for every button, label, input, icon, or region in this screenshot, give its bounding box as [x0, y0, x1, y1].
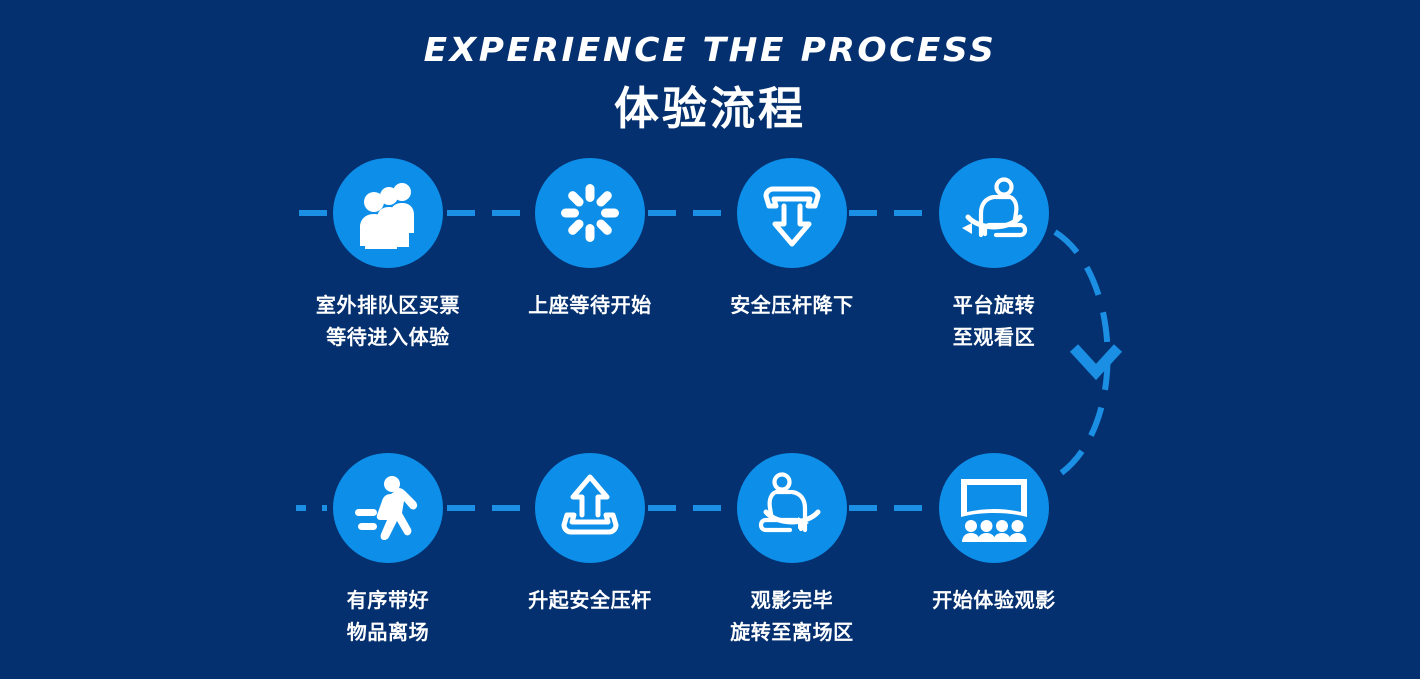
flow-step-2[interactable]: 上座等待开始 [490, 158, 690, 322]
flow-step-4[interactable]: 平台旋转 至观看区 [894, 158, 1094, 354]
flow-step-5-circle[interactable] [939, 453, 1049, 563]
flow-step-5-label: 开始体验观影 [894, 585, 1094, 617]
flow-step-1-label: 室外排队区买票 等待进入体验 [288, 290, 488, 354]
flow-step-5[interactable]: 开始体验观影 [894, 453, 1094, 617]
rotate-arrowhead-icon [962, 223, 972, 234]
flow-nodes: 室外排队区买票 等待进入体验 [0, 0, 1420, 679]
flow-step-6[interactable]: 观影完毕 旋转至离场区 [692, 453, 892, 649]
flow-step-7-label: 升起安全压杆 [490, 585, 690, 617]
flow-step-8-label: 有序带好 物品离场 [288, 585, 488, 649]
seat-rotate-right-icon [752, 468, 832, 548]
flow-step-2-circle[interactable] [535, 158, 645, 268]
cinema-screen-audience-icon [955, 469, 1033, 547]
flow-step-3[interactable]: 安全压杆降下 [692, 158, 892, 322]
flow-step-8-circle[interactable] [333, 453, 443, 563]
flow-step-4-circle[interactable] [939, 158, 1049, 268]
arrow-up-restraint-icon [553, 471, 627, 545]
flow-step-3-circle[interactable] [737, 158, 847, 268]
process-diagram-canvas: EXPERIENCE THE PROCESS 体验流程 [0, 0, 1420, 679]
flow-step-8[interactable]: 有序带好 物品离场 [288, 453, 488, 649]
flow-step-7[interactable]: 升起安全压杆 [490, 453, 690, 617]
flow-step-3-label: 安全压杆降下 [692, 290, 892, 322]
flow-step-6-label: 观影完毕 旋转至离场区 [692, 585, 892, 649]
queue-people-icon [352, 177, 424, 249]
flow-step-1-circle[interactable] [333, 158, 443, 268]
flow-step-4-label: 平台旋转 至观看区 [894, 290, 1094, 354]
flow-step-7-circle[interactable] [535, 453, 645, 563]
seat-rotate-left-icon [954, 173, 1034, 253]
walking-person-exit-icon [351, 471, 425, 545]
flow-step-2-label: 上座等待开始 [490, 290, 690, 322]
loading-spinner-icon [555, 178, 625, 248]
flow-step-1[interactable]: 室外排队区买票 等待进入体验 [288, 158, 488, 354]
flow-step-6-circle[interactable] [737, 453, 847, 563]
arrow-down-restraint-icon [755, 176, 829, 250]
